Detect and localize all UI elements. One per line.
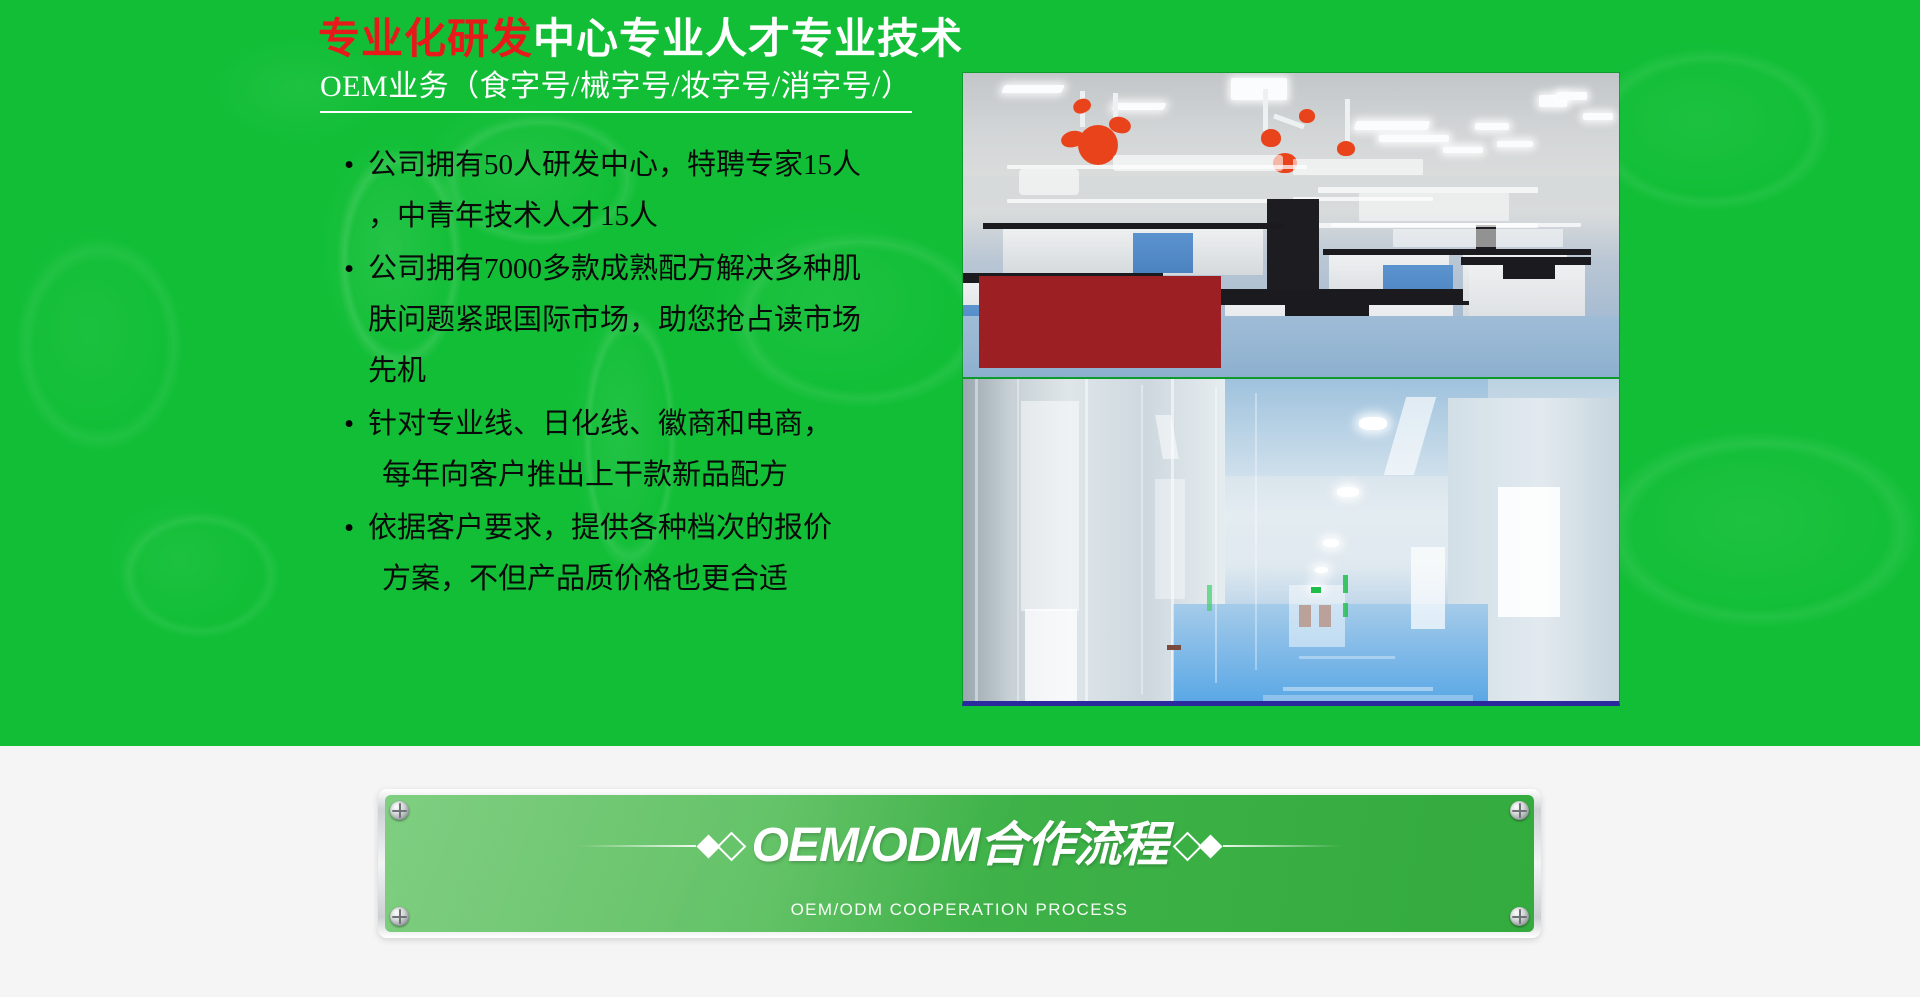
banner-title: OEM/ODM合作流程 [752,817,1168,875]
list-item-line: 先机 [368,346,965,397]
hero-section: 专业化研发中心专业人才专业技术 OEM业务（食字号/械字号/妆字号/消字号/） … [0,0,1920,746]
subtitle-oem-business: OEM业务（食字号/械字号/妆字号/消字号/） [320,66,912,113]
diamond-ornament-left-icon [578,836,742,857]
banner-title-row: OEM/ODM合作流程 [385,817,1534,875]
banner-plate: OEM/ODM合作流程 OEM/ODM COOPERATION PROCESS [385,795,1534,932]
bullet-dot-icon: • [344,140,354,191]
screw-icon [390,907,409,926]
banner-subtitle: OEM/ODM COOPERATION PROCESS [385,900,1534,920]
page-title-rest: 中心专业人才专业技术 [533,17,963,63]
feature-bullet-list: • 公司拥有50人研发中心，特聘专家15人 ，中青年技术人才15人 • 公司拥有… [340,140,965,607]
list-item: • 依据客户要求，提供各种档次的报价 方案，不但产品质价格也更合适 [340,503,965,605]
list-item-line: 每年向客户推出上干款新品配方 [368,450,965,501]
cooperation-process-banner: OEM/ODM合作流程 OEM/ODM COOPERATION PROCESS [378,789,1541,938]
list-item-line: 公司拥有50人研发中心，特聘专家15人 [368,140,965,191]
list-item-line: 方案，不但产品质价格也更合适 [368,554,965,605]
bullet-dot-icon: • [344,503,354,554]
cleanroom-corridor-photo [962,378,1620,706]
list-item-line: 肤问题紧跟国际市场，助您抢占读市场 [368,295,965,346]
list-item-line: ，中青年技术人才15人 [368,191,965,242]
redaction-block [979,276,1221,368]
banner-metal-frame: OEM/ODM合作流程 OEM/ODM COOPERATION PROCESS [378,789,1541,938]
list-item: • 针对专业线、日化线、徽商和电商， 每年向客户推出上干款新品配方 [340,399,965,501]
list-item-line: 针对专业线、日化线、徽商和电商， [368,399,965,450]
bullet-dot-icon: • [344,244,354,295]
page-title: 专业化研发中心专业人才专业技术 [318,14,963,66]
list-item: • 公司拥有7000多款成熟配方解决多种肌 肤问题紧跟国际市场，助您抢占读市场 … [340,244,965,397]
list-item-line: 公司拥有7000多款成熟配方解决多种肌 [368,244,965,295]
bullet-dot-icon: • [344,399,354,450]
screw-icon [390,801,409,820]
screw-icon [1510,907,1529,926]
list-item: • 公司拥有50人研发中心，特聘专家15人 ，中青年技术人才15人 [340,140,965,242]
laboratory-photo [962,72,1620,378]
page-title-emphasis: 专业化研发 [318,17,533,63]
list-item-line: 依据客户要求，提供各种档次的报价 [368,503,965,554]
screw-icon [1510,801,1529,820]
diamond-ornament-right-icon [1177,836,1341,857]
